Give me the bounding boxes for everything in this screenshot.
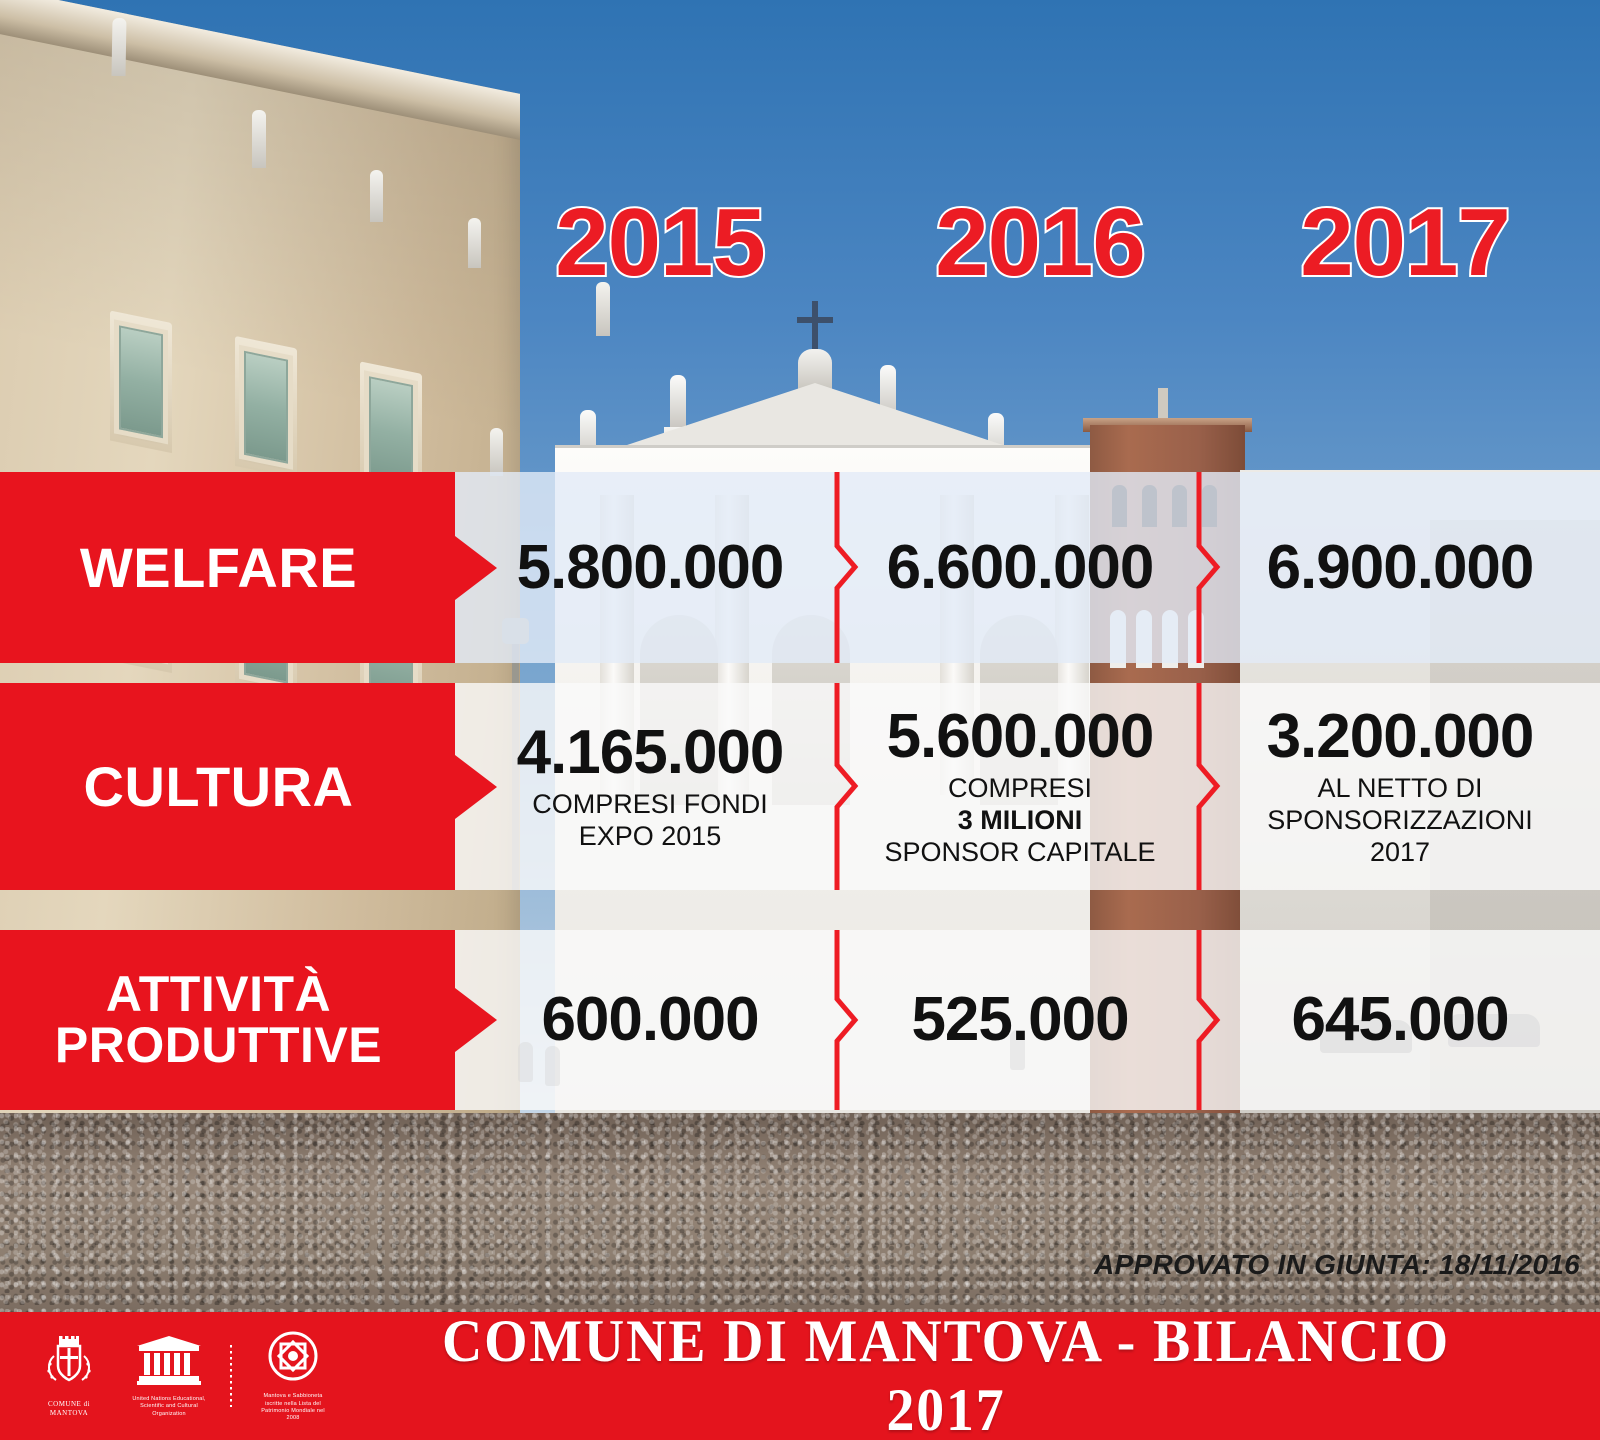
crest-icon xyxy=(40,1334,98,1397)
footer-title: COMUNE DI MANTOVA - BILANCIO 2017 xyxy=(375,1307,1517,1440)
cobblestone-pavement xyxy=(0,1113,1600,1312)
tower-spire xyxy=(1158,388,1168,420)
value-cell-attivita-2015: 600.000 xyxy=(470,930,830,1110)
value-cell-cultura-2017: 3.200.000 AL NETTO DI SPONSORIZZAZIONI 2… xyxy=(1205,683,1595,890)
row-label-line-1: ATTIVITÀ xyxy=(106,966,331,1022)
year-heading-2016: 2016 xyxy=(880,188,1200,298)
world-heritage-logo: Mantova e Sabbioneta iscritte nella List… xyxy=(254,1329,332,1423)
value-welfare-2015: 5.800.000 xyxy=(517,535,784,600)
note-cultura-2016-line2: 3 MILIONI xyxy=(958,805,1083,835)
world-heritage-caption: Mantova e Sabbioneta iscritte nella List… xyxy=(254,1393,332,1423)
note-cultura-2016-line3: SPONSOR CAPITALE xyxy=(884,837,1155,867)
pediment xyxy=(615,383,1015,449)
value-cell-welfare-2016: 6.600.000 xyxy=(845,472,1195,663)
value-attivita-2017: 645.000 xyxy=(1291,987,1508,1052)
comune-di-mantova-logo: COMUNE di MANTOVA xyxy=(30,1334,108,1419)
value-attivita-2016: 525.000 xyxy=(911,987,1128,1052)
world-heritage-icon xyxy=(264,1329,322,1390)
note-cultura-2017: AL NETTO DI SPONSORIZZAZIONI 2017 xyxy=(1267,773,1533,869)
value-attivita-2015: 600.000 xyxy=(541,987,758,1052)
value-cell-welfare-2017: 6.900.000 xyxy=(1205,472,1595,663)
note-cultura-2016: COMPRESI 3 MILIONI SPONSOR CAPITALE xyxy=(884,773,1155,869)
value-cell-cultura-2015: 4.165.000 COMPRESI FONDI EXPO 2015 xyxy=(470,683,830,890)
row-label-cultura: CULTURA xyxy=(0,683,455,890)
value-cell-attivita-2017: 645.000 xyxy=(1205,930,1595,1110)
note-cultura-2015: COMPRESI FONDI EXPO 2015 xyxy=(532,789,768,853)
note-cultura-2015-line1: COMPRESI FONDI xyxy=(532,789,768,819)
comune-logo-caption: COMUNE di MANTOVA xyxy=(30,1400,108,1419)
year-heading-2015: 2015 xyxy=(500,188,820,298)
row-label-cultura-text: CULTURA xyxy=(84,758,372,815)
row-label-welfare-text: WELFARE xyxy=(80,539,375,596)
note-cultura-2017-line1: AL NETTO DI xyxy=(1317,773,1482,803)
year-headings: 2015 2016 2017 xyxy=(0,188,1600,298)
logo-divider xyxy=(230,1345,232,1407)
value-cultura-2017: 3.200.000 xyxy=(1267,704,1534,769)
approval-note: APPROVATO IN GIUNTA: 18/11/2016 xyxy=(1094,1249,1580,1281)
value-cultura-2016: 5.600.000 xyxy=(887,704,1154,769)
unesco-logo-caption: United Nations Educational, Scientific a… xyxy=(130,1396,208,1418)
footer-logos: COMUNE di MANTOVA xyxy=(30,1329,332,1423)
footer-bar: COMUNE di MANTOVA xyxy=(0,1312,1600,1440)
unesco-logo: United Nations Educational, Scientific a… xyxy=(130,1334,208,1418)
note-cultura-2017-line2: SPONSORIZZAZIONI xyxy=(1267,805,1533,835)
value-cultura-2015: 4.165.000 xyxy=(517,720,784,785)
note-cultura-2017-line3: 2017 xyxy=(1370,837,1430,867)
unesco-temple-icon xyxy=(133,1334,205,1393)
row-label-attivita-produttive-text: ATTIVITÀ PRODUTTIVE xyxy=(55,969,400,1071)
value-welfare-2017: 6.900.000 xyxy=(1267,535,1534,600)
value-cell-attivita-2016: 525.000 xyxy=(845,930,1195,1110)
note-cultura-2015-line2: EXPO 2015 xyxy=(579,821,722,851)
infographic-poster: 2015 2016 2017 WELFARE CULTURA ATTIVITÀ … xyxy=(0,0,1600,1440)
row-label-welfare: WELFARE xyxy=(0,472,455,663)
cross-finial xyxy=(812,301,818,355)
value-welfare-2016: 6.600.000 xyxy=(887,535,1154,600)
note-cultura-2016-line1: COMPRESI xyxy=(948,773,1092,803)
row-label-line-2: PRODUTTIVE xyxy=(55,1017,382,1073)
value-cell-welfare-2015: 5.800.000 xyxy=(470,472,830,663)
value-cell-cultura-2016: 5.600.000 COMPRESI 3 MILIONI SPONSOR CAP… xyxy=(845,683,1195,890)
year-heading-2017: 2017 xyxy=(1245,188,1565,298)
row-label-attivita-produttive: ATTIVITÀ PRODUTTIVE xyxy=(0,930,455,1110)
